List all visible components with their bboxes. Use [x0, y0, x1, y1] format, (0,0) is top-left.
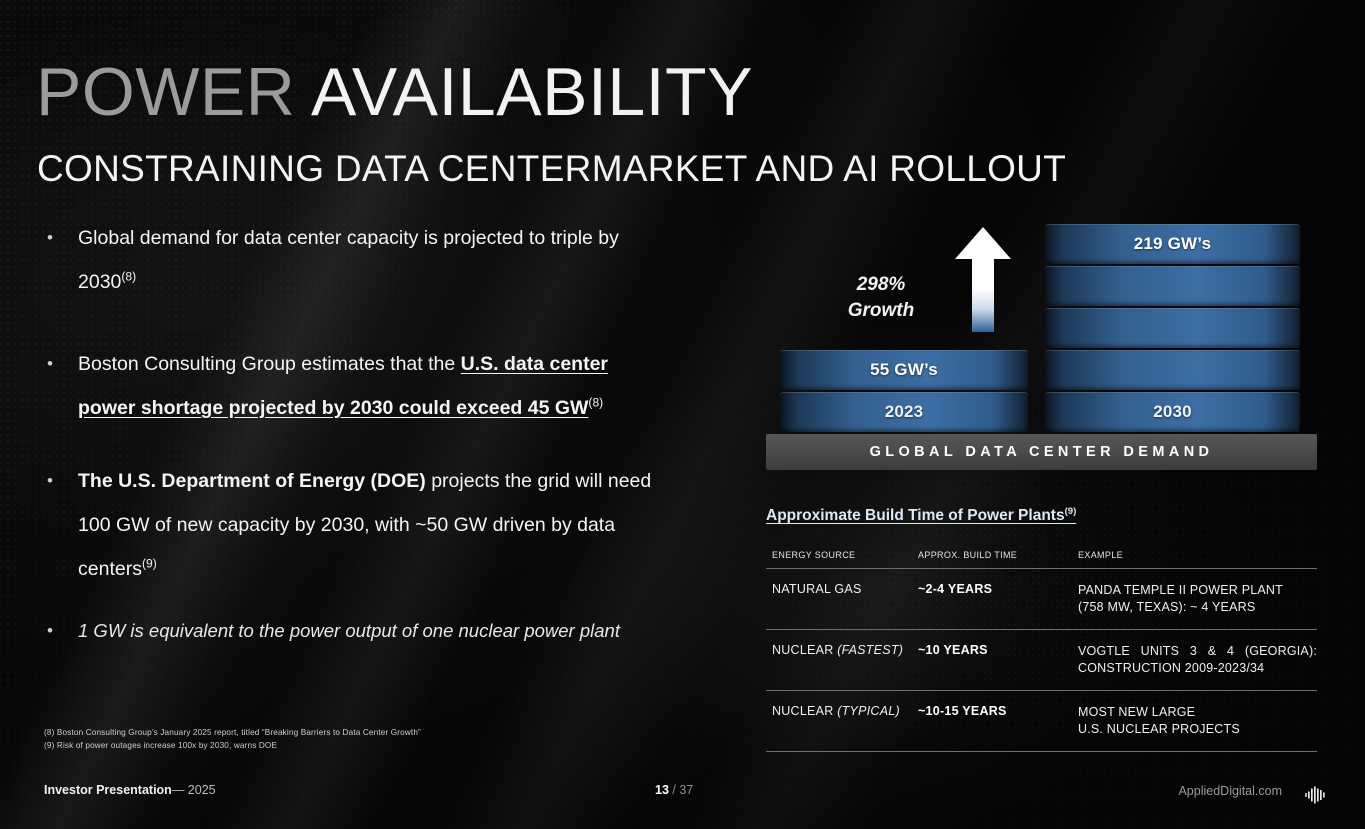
cell-example-line-1: PANDA TEMPLE II POWER PLANT [1078, 582, 1317, 599]
bar-2023-segment: 55 GW’s [780, 350, 1028, 390]
bullet-2-footnote-ref: (8) [588, 396, 603, 410]
applied-digital-logo-icon [1302, 781, 1330, 809]
footnotes: (8) Boston Consulting Group’s January 20… [44, 727, 421, 752]
build-table-heading-text: Approximate Build Time of Power Plants [766, 507, 1065, 524]
slide-root: POWER AVAILABILITY CONSTRAINING DATA CEN… [0, 0, 1365, 829]
bullet-3-footnote-ref: (9) [142, 557, 157, 571]
bar-2030-value-label: 219 GW’s [1134, 234, 1212, 254]
column-header-example: EXAMPLE [1078, 550, 1317, 560]
list-item: • Boston Consulting Group estimates that… [40, 342, 670, 430]
table-row: NUCLEAR (TYPICAL) ~10-15 YEARS MOST NEW … [766, 691, 1317, 752]
growth-arrow-icon [954, 227, 1012, 332]
cell-example-line-1: VOGTLE UNITS 3 & 4 (GEORGIA): [1078, 643, 1317, 660]
cell-source-text: NATURAL GAS [772, 582, 862, 596]
page-number-total: 37 [679, 783, 693, 797]
bullet-list: • Global demand for data center capacity… [40, 216, 670, 653]
column-header-build-time: APPROX. BUILD TIME [918, 550, 1078, 560]
cell-source-qualifier: (TYPICAL) [837, 704, 900, 718]
bullet-2-text: Boston Consulting Group estimates that t… [78, 353, 461, 375]
footnote-9: (9) Risk of power outages increase 100x … [44, 740, 421, 753]
bullet-1-footnote-ref: (8) [121, 270, 136, 284]
list-item: • Global demand for data center capacity… [40, 216, 670, 304]
bar-2030-category-label: 2030 [1153, 402, 1192, 422]
growth-annotation: 298% Growth [826, 272, 936, 324]
bullet-marker: • [47, 609, 53, 653]
bar-2030-segment [1045, 308, 1300, 348]
build-table-footnote-ref: (9) [1065, 506, 1077, 517]
cell-build-time: ~10 YEARS [918, 643, 1078, 677]
cell-source-text: NUCLEAR [772, 704, 837, 718]
bullet-marker: • [47, 342, 53, 386]
bar-2030-segment: 2030 [1045, 392, 1300, 432]
build-table-heading: Approximate Build Time of Power Plants(9… [766, 507, 1076, 525]
bullet-4-text: 1 GW is equivalent to the power output o… [78, 620, 620, 641]
cell-example-line-2: (758 MW, TEXAS): ~ 4 YEARS [1078, 599, 1317, 616]
bar-2030-segment: 219 GW’s [1045, 224, 1300, 264]
cell-energy-source: NUCLEAR (FASTEST) [766, 643, 918, 677]
cell-example: VOGTLE UNITS 3 & 4 (GEORGIA): CONSTRUCTI… [1078, 643, 1317, 677]
bar-2030-segment [1045, 266, 1300, 306]
bar-2023-value-label: 55 GW’s [870, 360, 938, 380]
cell-source-text: NUCLEAR [772, 643, 837, 657]
cell-example: MOST NEW LARGE U.S. NUCLEAR PROJECTS [1078, 704, 1317, 738]
column-header-energy-source: ENERGY SOURCE [766, 550, 918, 560]
cell-example-line-1: MOST NEW LARGE [1078, 704, 1317, 721]
chart-caption-text: GLOBAL DATA CENTER DEMAND [870, 444, 1214, 460]
footer-presentation-year: — 2025 [172, 783, 216, 797]
bullet-marker: • [47, 459, 53, 503]
growth-percent: 298% [826, 272, 936, 298]
bar-2023-category-label: 2023 [885, 402, 924, 422]
bullet-marker: • [47, 216, 53, 260]
table-row: NATURAL GAS ~2-4 YEARS PANDA TEMPLE II P… [766, 569, 1317, 630]
bar-2023: 55 GW’s 2023 [780, 350, 1028, 432]
bar-2023-segment: 2023 [780, 392, 1028, 432]
page-number-separator: / [669, 783, 679, 797]
list-item: • 1 GW is equivalent to the power output… [40, 609, 670, 653]
footnote-8: (8) Boston Consulting Group’s January 20… [44, 727, 421, 740]
cell-example: PANDA TEMPLE II POWER PLANT (758 MW, TEX… [1078, 582, 1317, 616]
chart-caption-band: GLOBAL DATA CENTER DEMAND [766, 434, 1317, 470]
footer-presentation-title: Investor Presentation [44, 783, 172, 797]
table-header-row: ENERGY SOURCE APPROX. BUILD TIME EXAMPLE [766, 550, 1317, 569]
footer-presentation-label: Investor Presentation— 2025 [44, 783, 216, 797]
page-title-gray: POWER [36, 54, 311, 130]
build-time-table: ENERGY SOURCE APPROX. BUILD TIME EXAMPLE… [766, 550, 1317, 752]
footer-website: AppliedDigital.com [1178, 784, 1282, 798]
bullet-3-emphasis: The U.S. Department of Energy (DOE) [78, 470, 426, 492]
cell-example-line-2: U.S. NUCLEAR PROJECTS [1078, 721, 1317, 738]
page-number-current: 13 [655, 783, 669, 797]
cell-energy-source: NATURAL GAS [766, 582, 918, 616]
bar-2030-segment [1045, 350, 1300, 390]
page-title-white: AVAILABILITY [311, 54, 753, 130]
bullet-1-text: Global demand for data center capacity i… [78, 227, 619, 293]
cell-source-qualifier: (FASTEST) [837, 643, 903, 657]
list-item: • The U.S. Department of Energy (DOE) pr… [40, 459, 670, 591]
cell-build-time: ~2-4 YEARS [918, 582, 1078, 616]
bar-2030: 219 GW’s 2030 [1045, 224, 1300, 432]
cell-energy-source: NUCLEAR (TYPICAL) [766, 704, 918, 738]
growth-word: Growth [826, 298, 936, 324]
page-number: 13 / 37 [655, 783, 693, 797]
cell-example-line-2: CONSTRUCTION 2009-2023/34 [1078, 660, 1317, 677]
cell-build-time: ~10-15 YEARS [918, 704, 1078, 738]
table-row: NUCLEAR (FASTEST) ~10 YEARS VOGTLE UNITS… [766, 630, 1317, 691]
page-title: POWER AVAILABILITY [36, 58, 753, 126]
page-subtitle: CONSTRAINING DATA CENTERMARKET AND AI RO… [37, 148, 1066, 190]
